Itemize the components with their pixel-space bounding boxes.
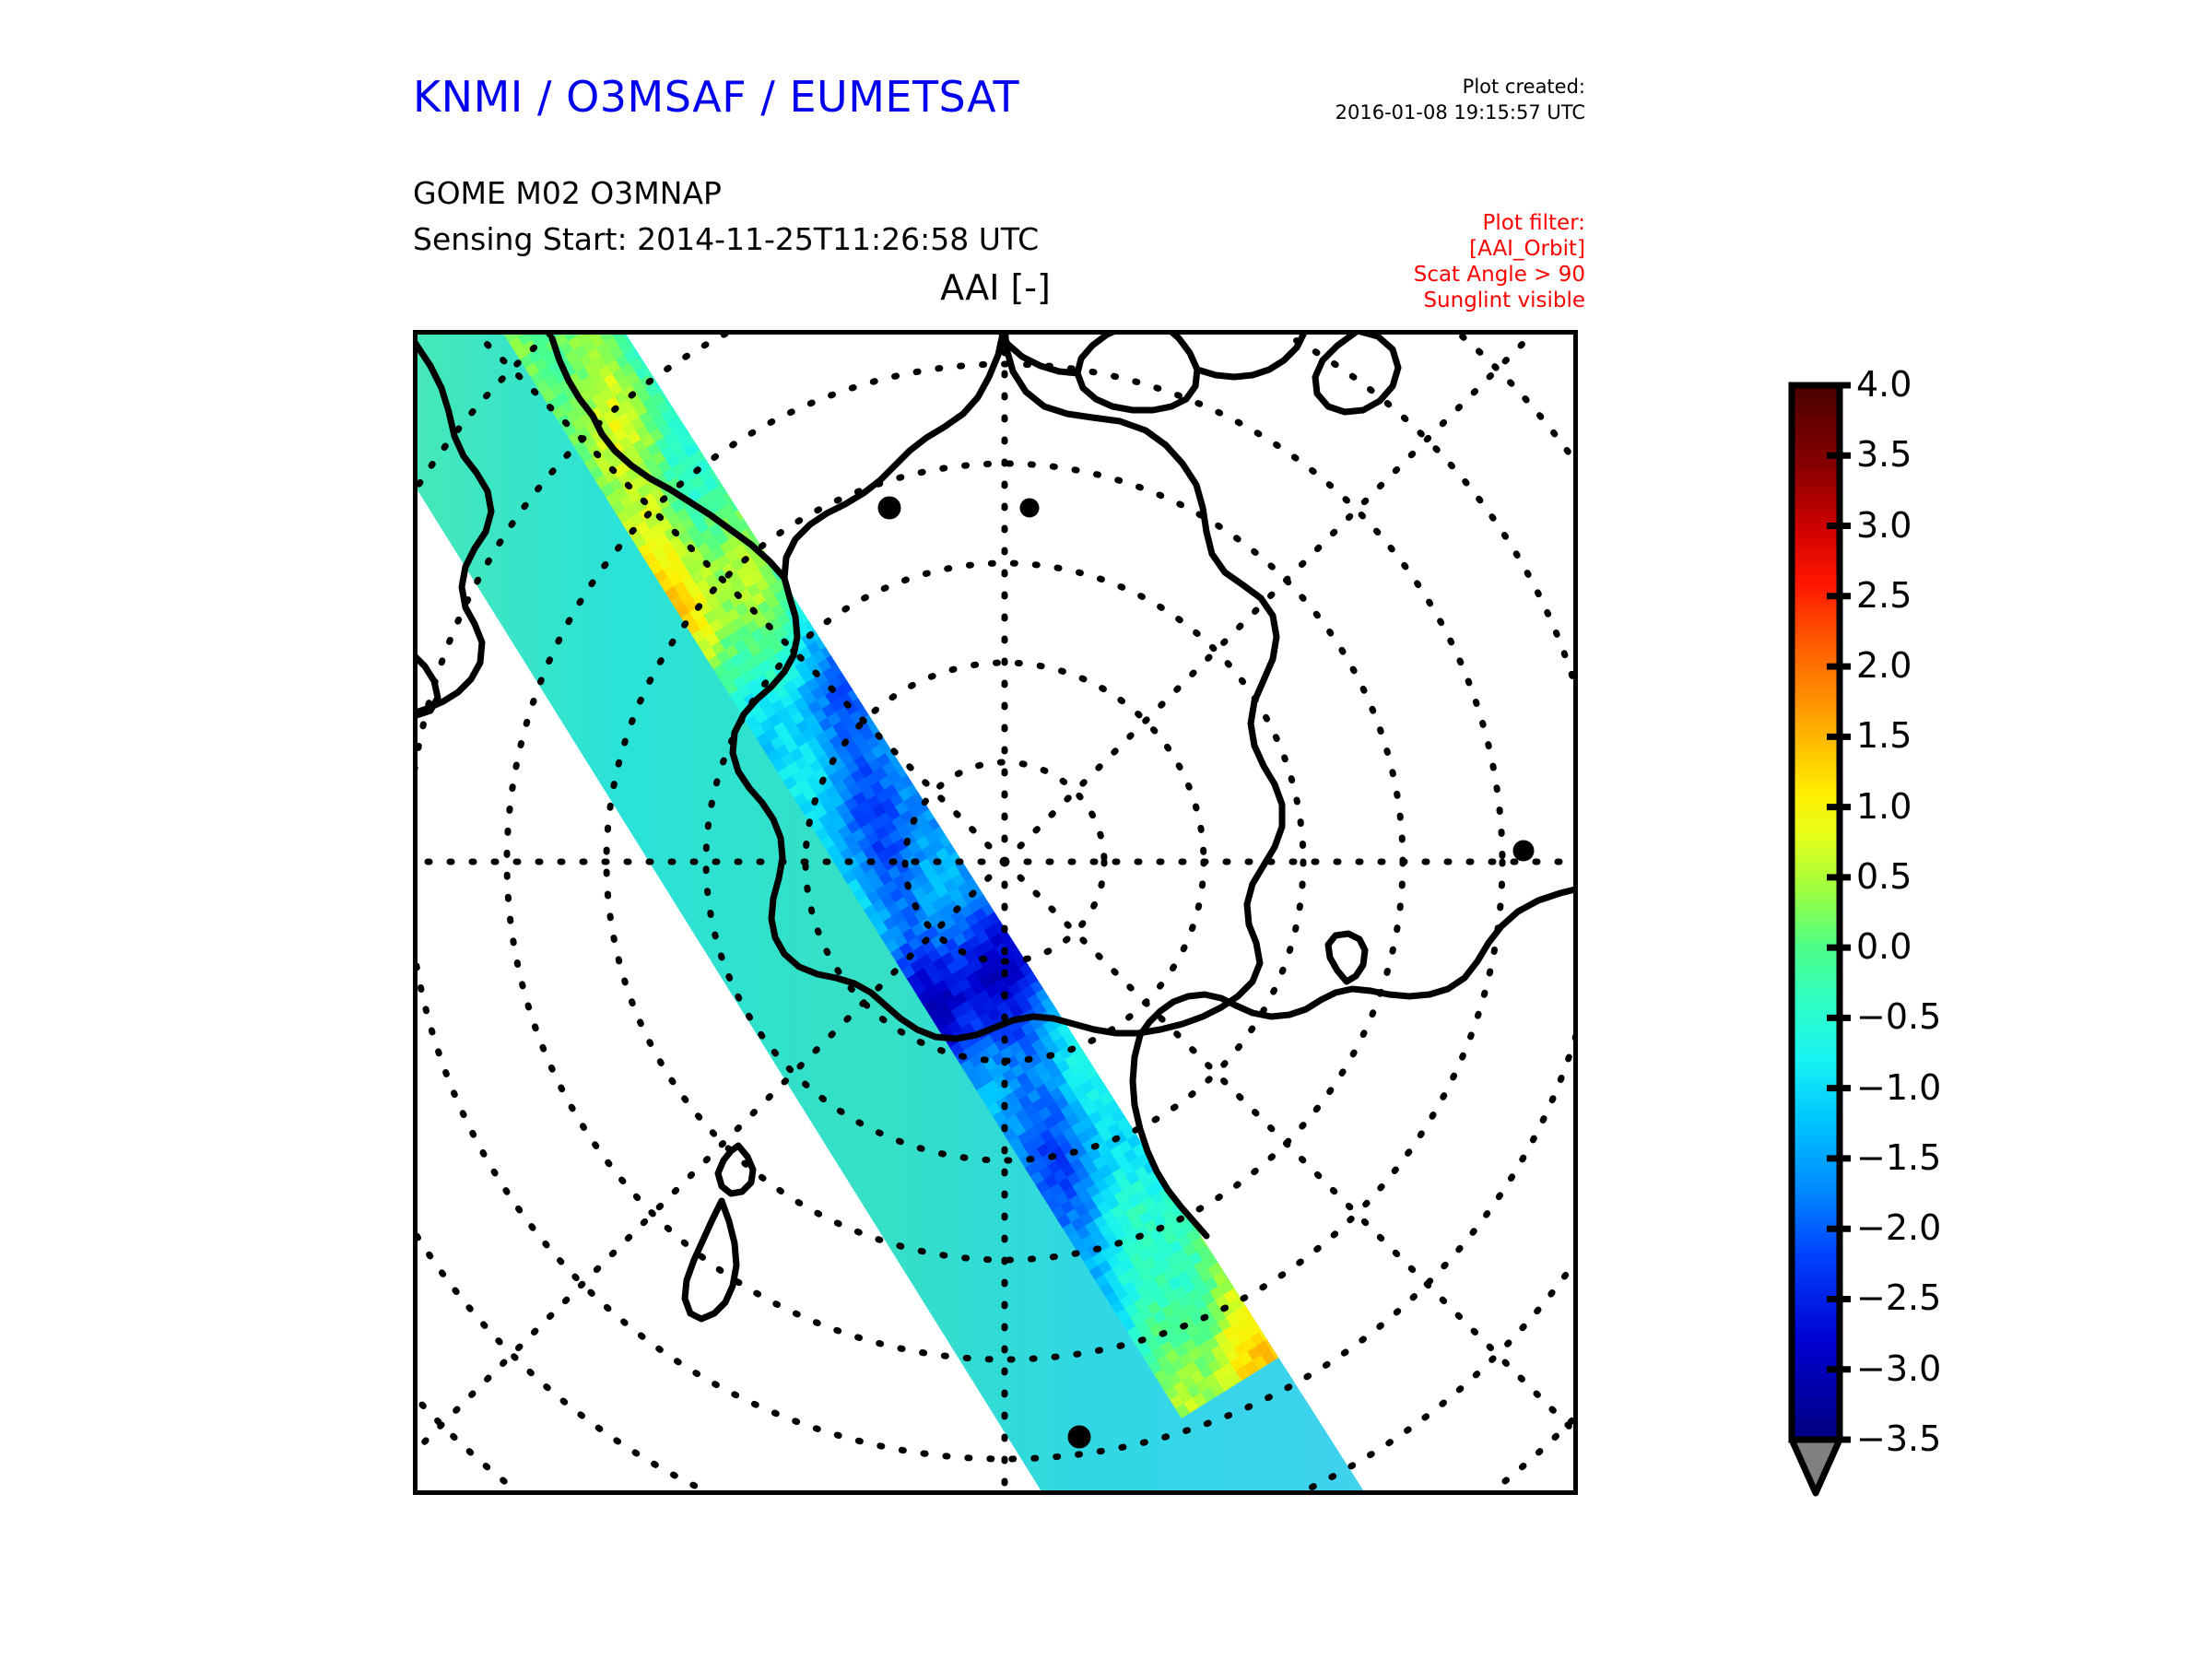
- africa-east-coast: [1197, 335, 1306, 377]
- page-title: KNMI / O3MSAF / EUMETSAT: [413, 72, 1019, 122]
- plot-filter-label: Plot filter:: [1290, 210, 1585, 236]
- colorbar-tick-label: 3.5: [1856, 437, 1912, 472]
- colorbar-tick-label: 1.0: [1856, 789, 1912, 824]
- plot-created-value: 2016-01-08 19:15:57 UTC: [1088, 100, 1585, 125]
- island-dot-2: [1023, 501, 1036, 514]
- new-zealand-south-island: [685, 1201, 736, 1319]
- colorbar-gradient-bar: [1792, 385, 1840, 1440]
- colorbar-tick-label: 2.0: [1856, 648, 1912, 683]
- dataset-subtitle: GOME M02 O3MNAP Sensing Start: 2014-11-2…: [413, 171, 1039, 263]
- plot-created-label: Plot created:: [1088, 74, 1585, 100]
- island-dot-4: [1071, 1429, 1088, 1445]
- colorbar-tick-label: 0.5: [1856, 859, 1912, 894]
- aai-swath: [418, 335, 1573, 1490]
- meridian-line: [1005, 335, 1573, 862]
- map-plot-area: [413, 330, 1578, 1495]
- plot-created-block: Plot created: 2016-01-08 19:15:57 UTC: [1088, 74, 1585, 125]
- sensing-start-line: Sensing Start: 2014-11-25T11:26:58 UTC: [413, 217, 1039, 263]
- colorbar: 4.03.53.02.52.01.51.00.50.0−0.5−1.0−1.5−…: [1784, 330, 2171, 1500]
- colorbar-tick-label: −2.0: [1856, 1210, 1941, 1245]
- axes-title: AAI [-]: [413, 267, 1578, 308]
- colorbar-tick-label: −0.5: [1856, 999, 1941, 1034]
- madagascar-coastline: [1315, 335, 1398, 412]
- colorbar-tick-label: 1.5: [1856, 718, 1912, 753]
- colorbar-tick-label: −1.5: [1856, 1140, 1941, 1175]
- polar-map: [418, 335, 1573, 1490]
- colorbar-tick-label: −3.0: [1856, 1351, 1941, 1386]
- colorbar-tick-label: −1.0: [1856, 1070, 1941, 1105]
- colorbar-tick-label: 2.5: [1856, 578, 1912, 613]
- colorbar-tick-label: −2.5: [1856, 1280, 1941, 1315]
- colorbar-under-arrow: [1792, 1440, 1840, 1493]
- new-zealand-north-island: [718, 1146, 753, 1194]
- plot-filter-name: [AAI_Orbit]: [1290, 236, 1585, 262]
- colorbar-tick-label: −3.5: [1856, 1421, 1941, 1456]
- island-dot-3: [1516, 843, 1531, 858]
- colorbar-tick-label: 0.0: [1856, 929, 1912, 964]
- colorbar-tick-label: 3.0: [1856, 508, 1912, 543]
- colorbar-tick-label: 4.0: [1856, 367, 1912, 402]
- instrument-line: GOME M02 O3MNAP: [413, 171, 1039, 217]
- colorbar-svg: [1784, 330, 2171, 1500]
- island-dot-1: [881, 500, 898, 516]
- tasmania-coastline: [1328, 934, 1365, 982]
